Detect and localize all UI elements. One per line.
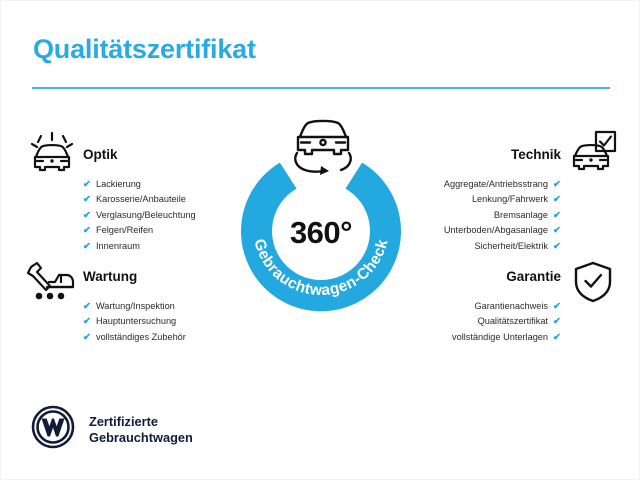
shield-check-icon <box>572 260 614 309</box>
check-icon: ✔ <box>553 330 561 345</box>
list-item: ✔ Wartung/Inspektion <box>83 299 253 314</box>
section-technik: Technik Aggregate/Antriebsstrang ✔ Lenku… <box>391 147 561 254</box>
list-item: ✔ Karosserie/Anbauteile <box>83 192 253 207</box>
check-icon: ✔ <box>83 208 91 223</box>
check-icon: ✔ <box>553 299 561 314</box>
section-heading-technik: Technik <box>391 147 561 168</box>
list-technik: Aggregate/Antriebsstrang ✔ Lenkung/Fahrw… <box>391 177 561 254</box>
check-icon: ✔ <box>553 192 561 207</box>
list-item: Unterboden/Abgasanlage ✔ <box>391 223 561 238</box>
section-heading-wartung: Wartung <box>83 269 253 290</box>
check-icon: ✔ <box>83 314 91 329</box>
list-item: Aggregate/Antriebsstrang ✔ <box>391 177 561 192</box>
car-checkbox-icon <box>568 130 618 179</box>
badge-360-gebrauchtwagen-check: Gebrauchtwagen-Check 360° <box>229 135 413 319</box>
list-item-label: Aggregate/Antriebsstrang <box>444 177 548 192</box>
section-heading-garantie: Garantie <box>391 269 561 290</box>
list-item: Sicherheit/Elektrik ✔ <box>391 239 561 254</box>
list-item-label: Karosserie/Anbauteile <box>96 192 186 207</box>
check-icon: ✔ <box>83 239 91 254</box>
section-heading-optik: Optik <box>83 147 253 168</box>
list-item-label: Felgen/Reifen <box>96 223 153 238</box>
list-item-label: Lackierung <box>96 177 141 192</box>
list-item-label: Verglasung/Beleuchtung <box>96 208 196 223</box>
footer-brand: Zertifizierte Gebrauchtwagen <box>31 405 193 454</box>
section-optik: Optik ✔ Lackierung ✔ Karosserie/Anbautei… <box>83 147 253 254</box>
list-item: ✔ Felgen/Reifen <box>83 223 253 238</box>
list-optik: ✔ Lackierung ✔ Karosserie/Anbauteile ✔ V… <box>83 177 253 254</box>
list-item: vollständige Unterlagen ✔ <box>391 330 561 345</box>
certificate-page: Qualitätszertifikat Optik ✔ <box>0 0 640 480</box>
list-item: Bremsanlage ✔ <box>391 208 561 223</box>
list-item: ✔ Lackierung <box>83 177 253 192</box>
check-icon: ✔ <box>83 223 91 238</box>
check-icon: ✔ <box>553 314 561 329</box>
list-item-label: Wartung/Inspektion <box>96 299 175 314</box>
list-item-label: Garantienachweis <box>474 299 548 314</box>
list-item-label: Unterboden/Abgasanlage <box>444 223 548 238</box>
check-icon: ✔ <box>83 177 91 192</box>
list-item: Garantienachweis ✔ <box>391 299 561 314</box>
header-divider <box>32 87 610 89</box>
list-item-label: Lenkung/Fahrwerk <box>472 192 548 207</box>
vw-logo-icon <box>31 405 75 454</box>
list-item-label: vollständiges Zubehör <box>96 330 186 345</box>
car-lift-wrench-icon <box>25 260 77 309</box>
check-icon: ✔ <box>553 208 561 223</box>
list-wartung: ✔ Wartung/Inspektion ✔ Hauptuntersuchung… <box>83 299 253 345</box>
list-item-label: Hauptuntersuchung <box>96 314 176 329</box>
section-garantie: Garantie Garantienachweis ✔ Qualitätszer… <box>391 269 561 345</box>
car-rotate-360-icon <box>285 113 361 177</box>
list-item-label: Qualitätszertifikat <box>478 314 548 329</box>
check-icon: ✔ <box>83 330 91 345</box>
list-item: ✔ vollständiges Zubehör <box>83 330 253 345</box>
footer-line-1: Zertifizierte <box>89 414 158 429</box>
list-item: Lenkung/Fahrwerk ✔ <box>391 192 561 207</box>
check-icon: ✔ <box>83 192 91 207</box>
list-item: ✔ Innenraum <box>83 239 253 254</box>
list-item-label: vollständige Unterlagen <box>452 330 548 345</box>
footer-brand-text: Zertifizierte Gebrauchtwagen <box>89 414 193 446</box>
check-icon: ✔ <box>553 223 561 238</box>
list-item-label: Innenraum <box>96 239 140 254</box>
check-icon: ✔ <box>553 177 561 192</box>
list-item: Qualitätszertifikat ✔ <box>391 314 561 329</box>
footer-line-2: Gebrauchtwagen <box>89 430 193 445</box>
list-item: ✔ Verglasung/Beleuchtung <box>83 208 253 223</box>
section-wartung: Wartung ✔ Wartung/Inspektion ✔ Hauptunte… <box>83 269 253 345</box>
list-garantie: Garantienachweis ✔ Qualitätszertifikat ✔… <box>391 299 561 345</box>
car-shine-icon <box>27 131 77 180</box>
check-icon: ✔ <box>83 299 91 314</box>
list-item-label: Bremsanlage <box>494 208 548 223</box>
check-icon: ✔ <box>553 239 561 254</box>
list-item: ✔ Hauptuntersuchung <box>83 314 253 329</box>
list-item-label: Sicherheit/Elektrik <box>475 239 549 254</box>
page-title: Qualitätszertifikat <box>33 34 256 65</box>
